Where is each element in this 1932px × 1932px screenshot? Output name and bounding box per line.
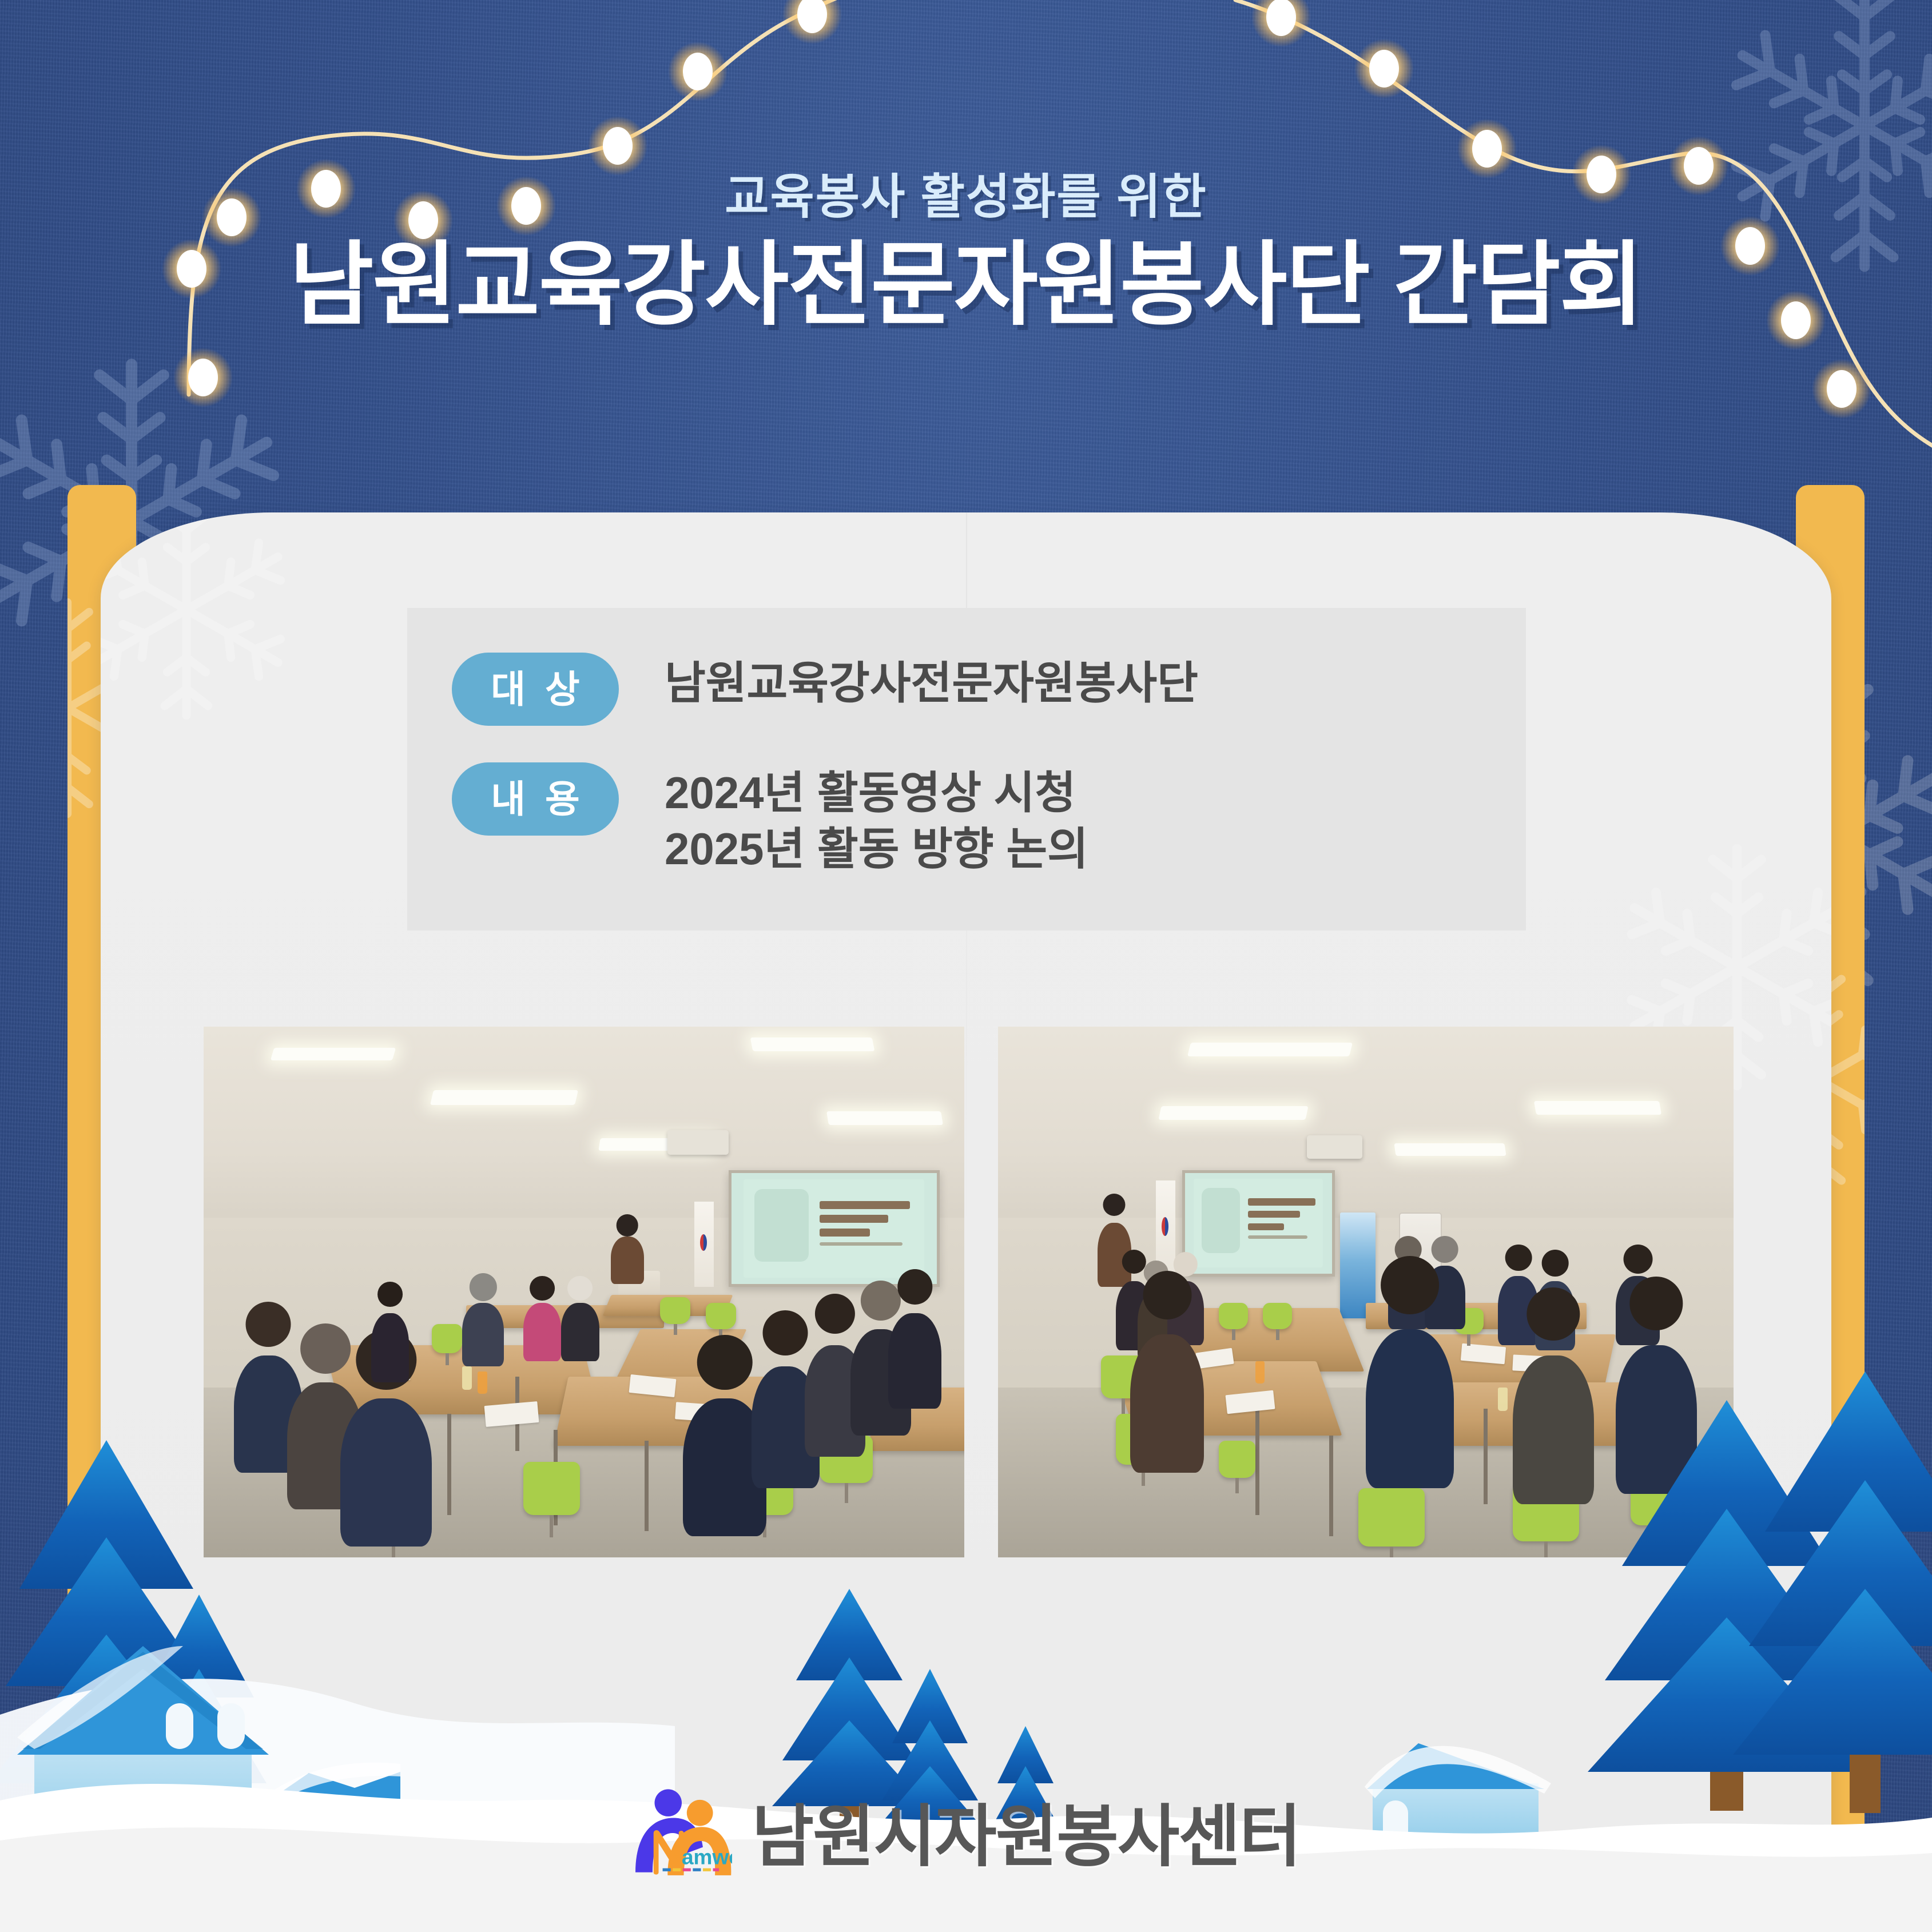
attendee [1366,1329,1454,1488]
page-title: 남원교육강사전문자원봉사단 간담회 [0,237,1932,333]
ceiling-light [1534,1101,1661,1115]
slide [1194,1179,1323,1267]
ceiling-light [270,1048,395,1060]
attendee [1130,1334,1204,1472]
bottle [1255,1361,1264,1384]
slide-phone-graphic [1202,1188,1241,1254]
label-content-text: 내용 [471,780,599,818]
svg-text:amwon: amwon [682,1846,732,1869]
subtitle: 교육봉사 활성화를 위한 [0,172,1932,222]
attendee [1616,1345,1696,1494]
photo-1-scene [204,1027,964,1557]
info-row-content-text: 2024년 활동영상 시청 2025년 활동 방향 논의 [665,762,1088,877]
slide-phone-graphic [754,1189,809,1262]
speaker [611,1237,645,1285]
chair [660,1297,690,1323]
attendee [371,1313,410,1382]
ceiling-light [750,1037,874,1051]
bottle [478,1372,487,1394]
snowflake-icon [101,512,307,730]
chair [523,1462,581,1515]
attendee [340,1398,432,1547]
chair [706,1303,736,1329]
content-line-1: 2024년 활동영상 시청 [665,765,1088,821]
slide [744,1179,924,1278]
label-pill-content: 내용 [452,762,619,836]
title-block: 교육봉사 활성화를 위한 남원교육강사전문자원봉사단 간담회 [0,172,1932,333]
projector [667,1130,728,1155]
ceiling-light [430,1090,578,1105]
attendee [462,1303,504,1366]
event-photo-2 [998,1027,1734,1557]
chair [1358,1488,1425,1547]
bottle [462,1366,472,1390]
ceiling-light [1394,1143,1506,1156]
info-row-target: 대상 남원교육강사전문자원봉사단 [452,653,1198,726]
korean-flag [694,1202,714,1286]
attendee [561,1303,599,1361]
label-target-text: 대상 [471,670,599,708]
event-photo-1 [204,1027,964,1557]
chair [1219,1303,1248,1329]
photo-2-scene [998,1027,1734,1557]
info-panel: 대상 남원교육강사전문자원봉사단 내용 2024년 활동영상 시청 2025년 … [407,608,1526,931]
ceiling-light [1158,1106,1308,1120]
chair [1263,1303,1292,1329]
target-line-1: 남원교육강사전문자원봉사단 [665,655,1198,711]
projection-screen [1182,1170,1335,1277]
promo-card: 교육봉사 활성화를 위한 남원교육강사전문자원봉사단 간담회 [0,0,1932,1932]
chair [1219,1441,1255,1478]
footer-logo: amwon 남원시자원봉사센터 [0,1787,1932,1887]
ceiling-light [1187,1043,1353,1056]
namwon-logo-icon: amwon [631,1787,732,1887]
projector [1307,1135,1362,1159]
organization-name: 남원시자원봉사센터 [752,1803,1300,1871]
info-row-content: 내용 2024년 활동영상 시청 2025년 활동 방향 논의 [452,762,1088,877]
bottle [1498,1388,1508,1411]
label-pill-target: 대상 [452,653,619,726]
projection-screen [729,1170,940,1287]
attendee [888,1313,941,1409]
attendee [523,1303,562,1361]
chair [432,1324,462,1353]
content-line-2: 2025년 활동 방향 논의 [665,821,1088,877]
ceiling-light [826,1111,943,1125]
attendee [1513,1355,1593,1504]
handout [1461,1343,1506,1363]
info-row-target-text: 남원교육강사전문자원봉사단 [665,653,1198,711]
